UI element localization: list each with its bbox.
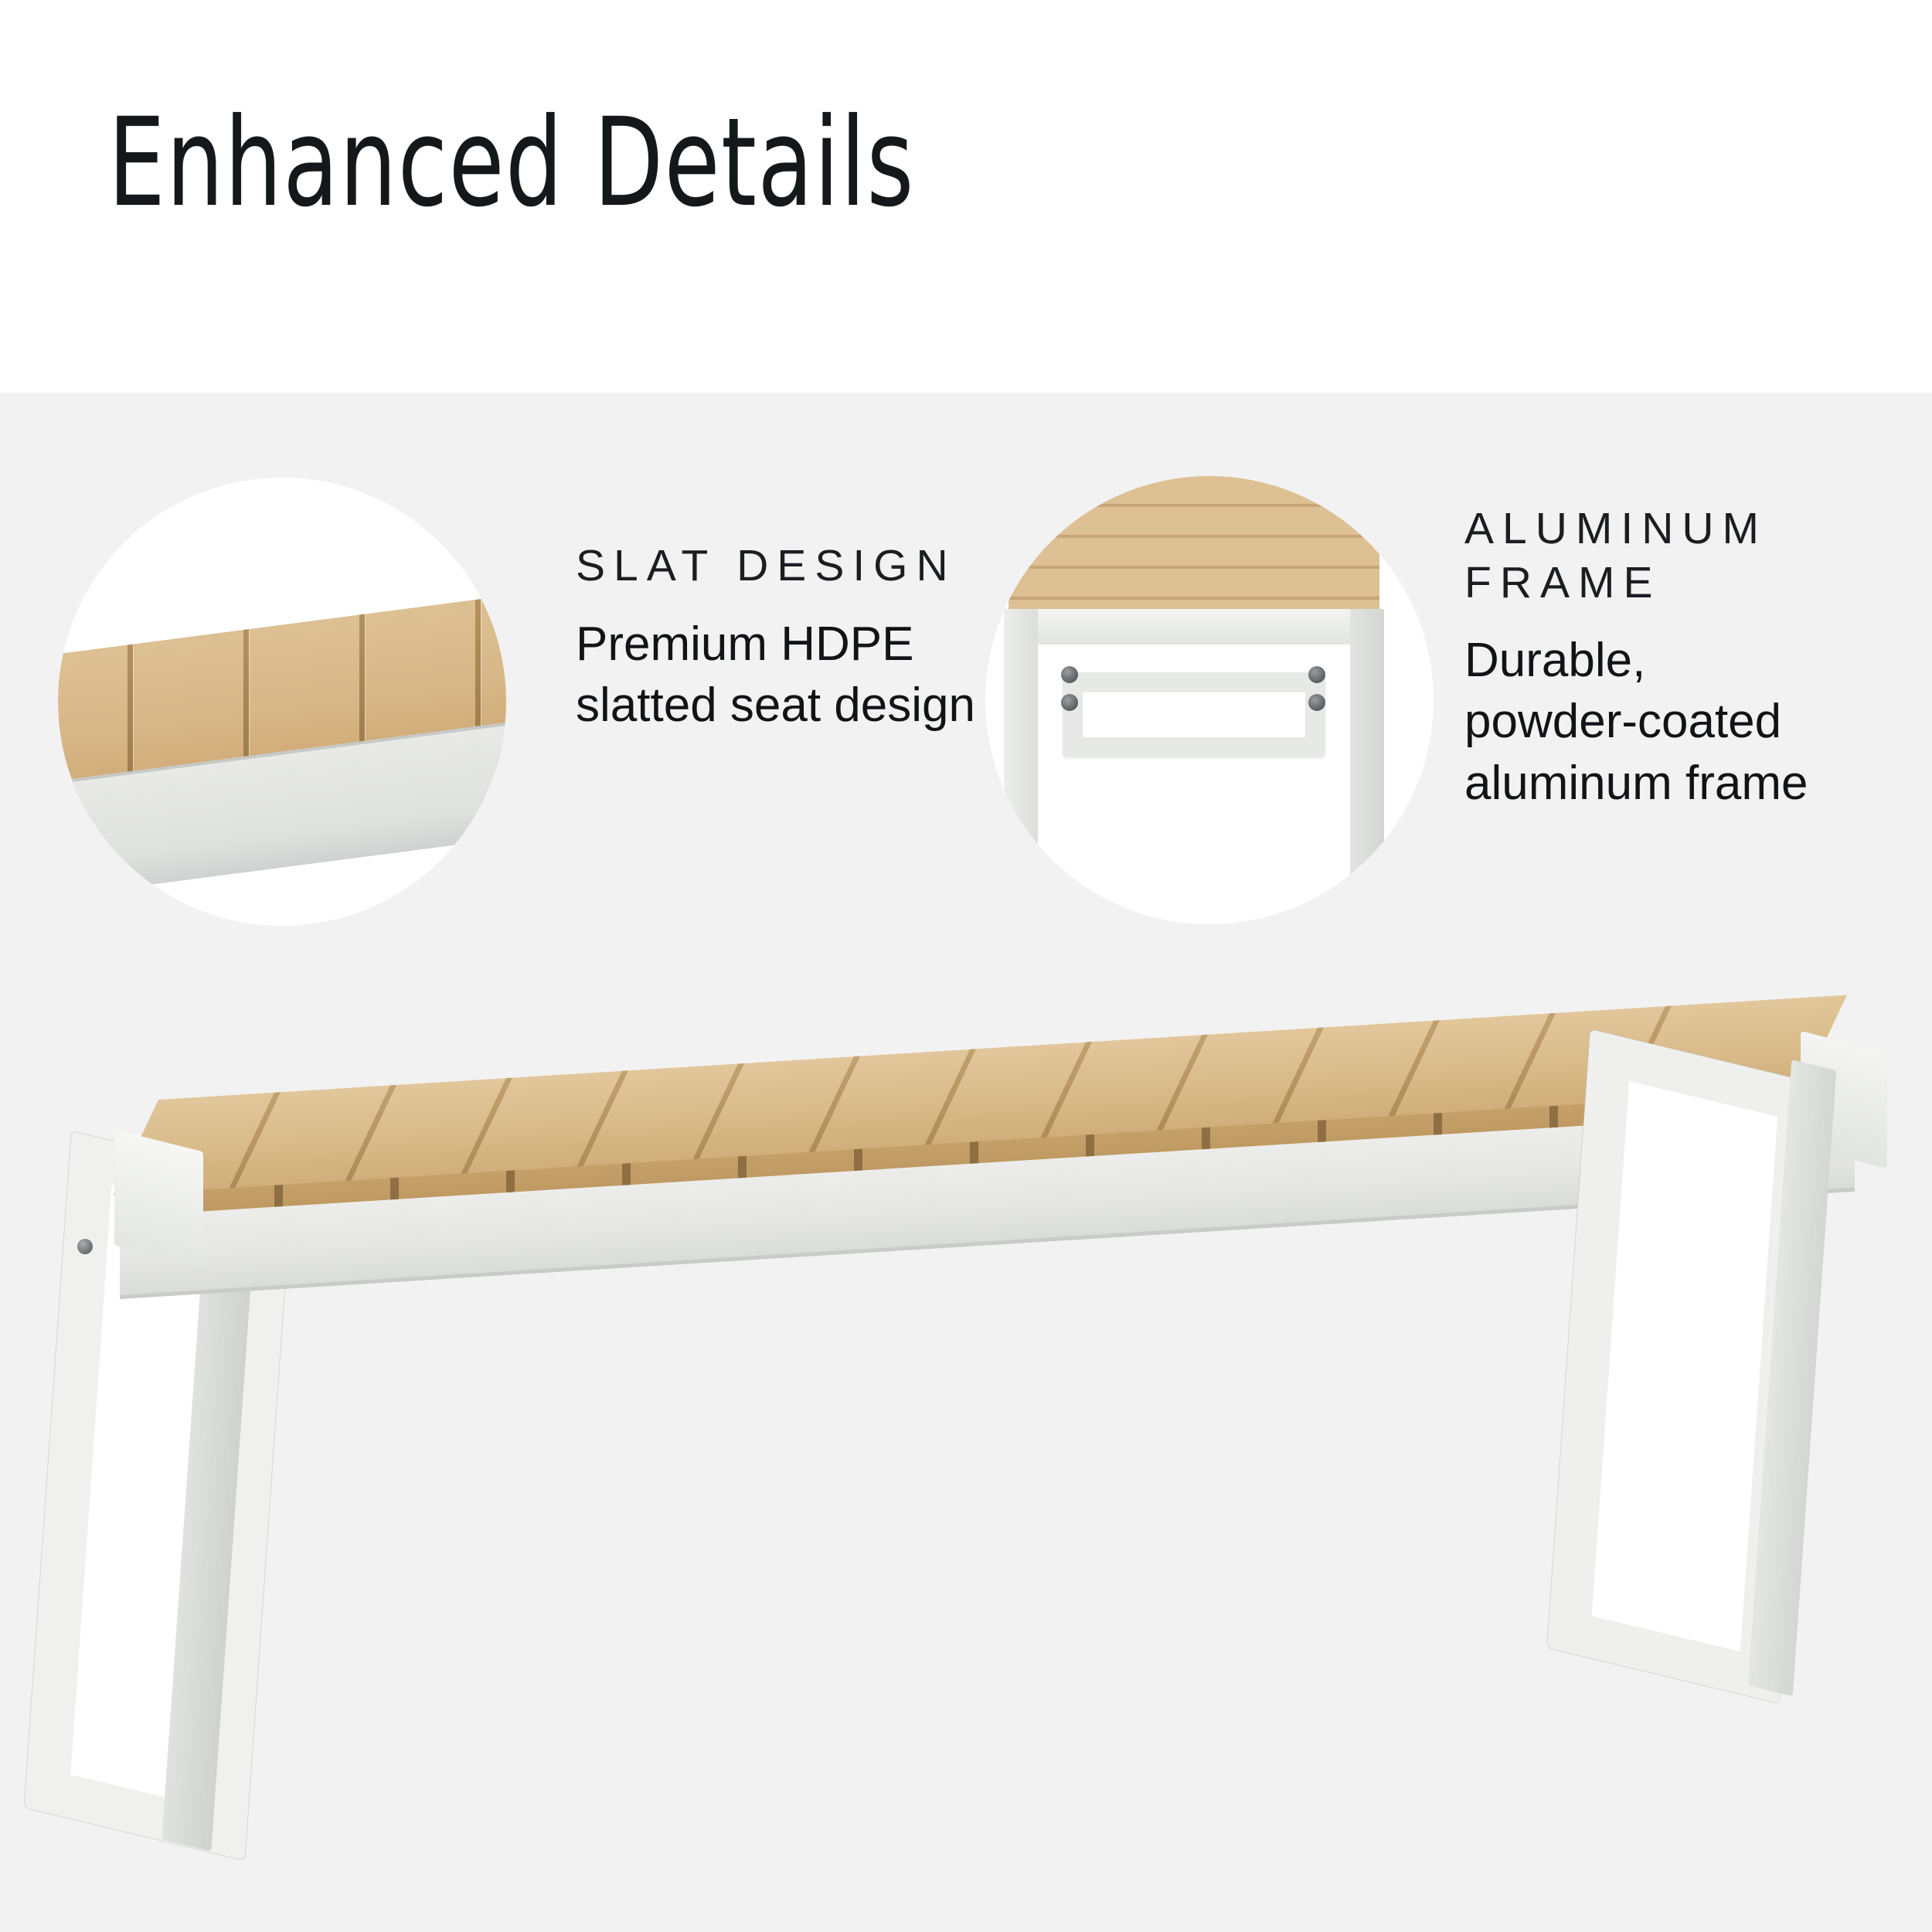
bench-end-cap-left — [114, 1130, 203, 1268]
header-band: Enhanced Details — [0, 0, 1932, 393]
content-band: SLAT DESIGN Premium HDPE slatted seat de… — [0, 393, 1932, 1932]
product-detail-page: Enhanced Details — [0, 0, 1932, 1932]
bench-bolt-icon — [77, 1239, 93, 1254]
page-title: Enhanced Details — [108, 91, 915, 235]
product-hero-image — [0, 393, 1932, 1932]
